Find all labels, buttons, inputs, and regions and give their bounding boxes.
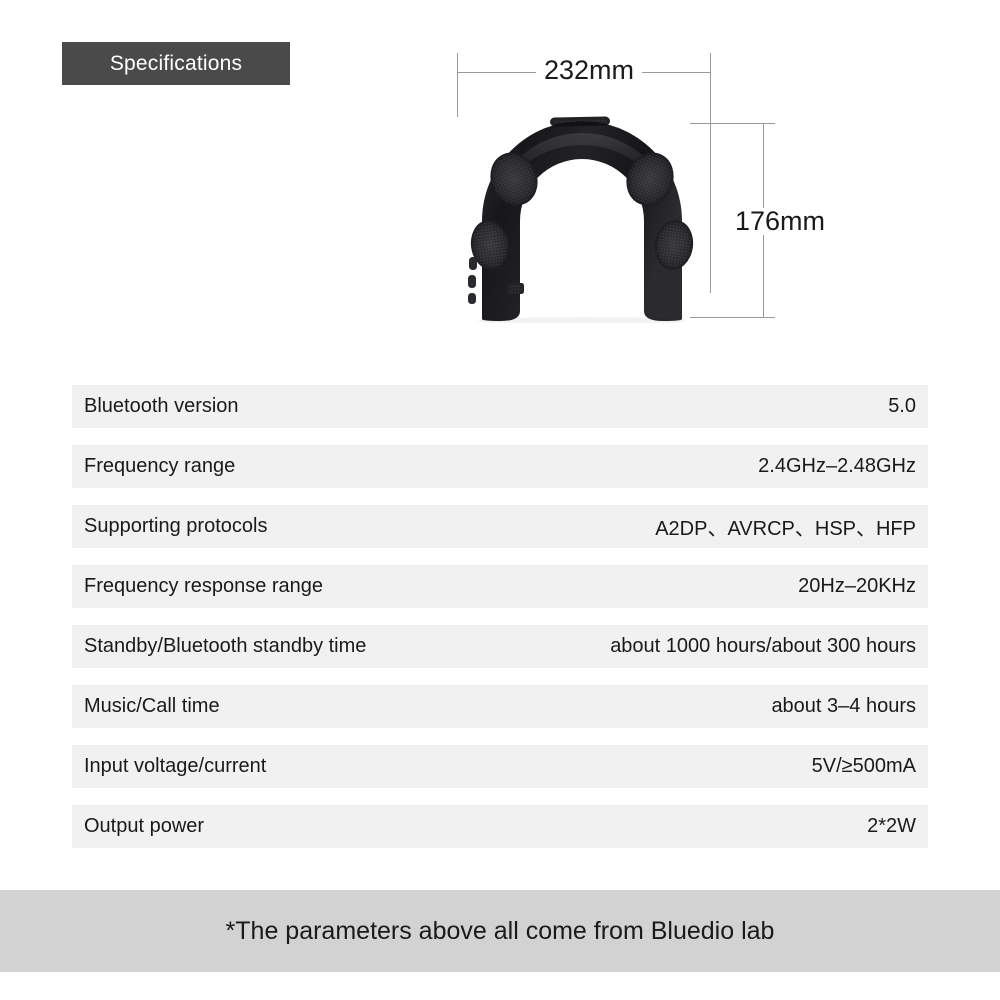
brand-logo-plate	[550, 116, 610, 126]
spec-name: Frequency response range	[84, 575, 323, 598]
spec-name: Supporting protocols	[84, 515, 267, 538]
table-row: Frequency range 2.4GHz–2.48GHz	[72, 445, 928, 488]
spec-name: Standby/Bluetooth standby time	[84, 635, 366, 658]
spec-value: 5.0	[888, 395, 916, 418]
spec-value: about 3–4 hours	[771, 695, 916, 718]
table-row: Supporting protocols A2DP、AVRCP、HSP、HFP	[72, 505, 928, 548]
spec-name: Music/Call time	[84, 695, 220, 718]
spec-value: A2DP、AVRCP、HSP、HFP	[655, 512, 916, 541]
spec-value: 2.4GHz–2.48GHz	[758, 455, 916, 478]
spec-name: Frequency range	[84, 455, 235, 478]
footer-note-text: *The parameters above all come from Blue…	[226, 919, 775, 944]
table-row: Frequency response range 20Hz–20KHz	[72, 565, 928, 608]
specifications-table: Bluetooth version 5.0 Frequency range 2.…	[72, 385, 928, 848]
spec-value: 20Hz–20KHz	[798, 575, 916, 598]
footer-note-banner: *The parameters above all come from Blue…	[0, 890, 1000, 972]
table-row: Standby/Bluetooth standby time about 100…	[72, 625, 928, 668]
neckband-speaker-image	[448, 105, 716, 323]
spec-name: Bluetooth version	[84, 395, 239, 418]
table-row: Bluetooth version 5.0	[72, 385, 928, 428]
table-row: Input voltage/current 5V/≥500mA	[72, 745, 928, 788]
control-buttons	[468, 257, 477, 304]
table-row: Music/Call time about 3–4 hours	[72, 685, 928, 728]
spec-name: Input voltage/current	[84, 755, 266, 778]
spec-value: 5V/≥500mA	[812, 755, 916, 778]
spec-value: 2*2W	[867, 815, 916, 838]
height-dimension-label: 176mm	[727, 208, 833, 235]
spec-value: about 1000 hours/about 300 hours	[610, 635, 916, 658]
microphone-grille	[508, 283, 524, 294]
table-row: Output power 2*2W	[72, 805, 928, 848]
spec-name: Output power	[84, 815, 204, 838]
width-dimension-label: 232mm	[536, 57, 642, 84]
product-dimension-diagram: 232mm 176mm	[0, 0, 1000, 360]
